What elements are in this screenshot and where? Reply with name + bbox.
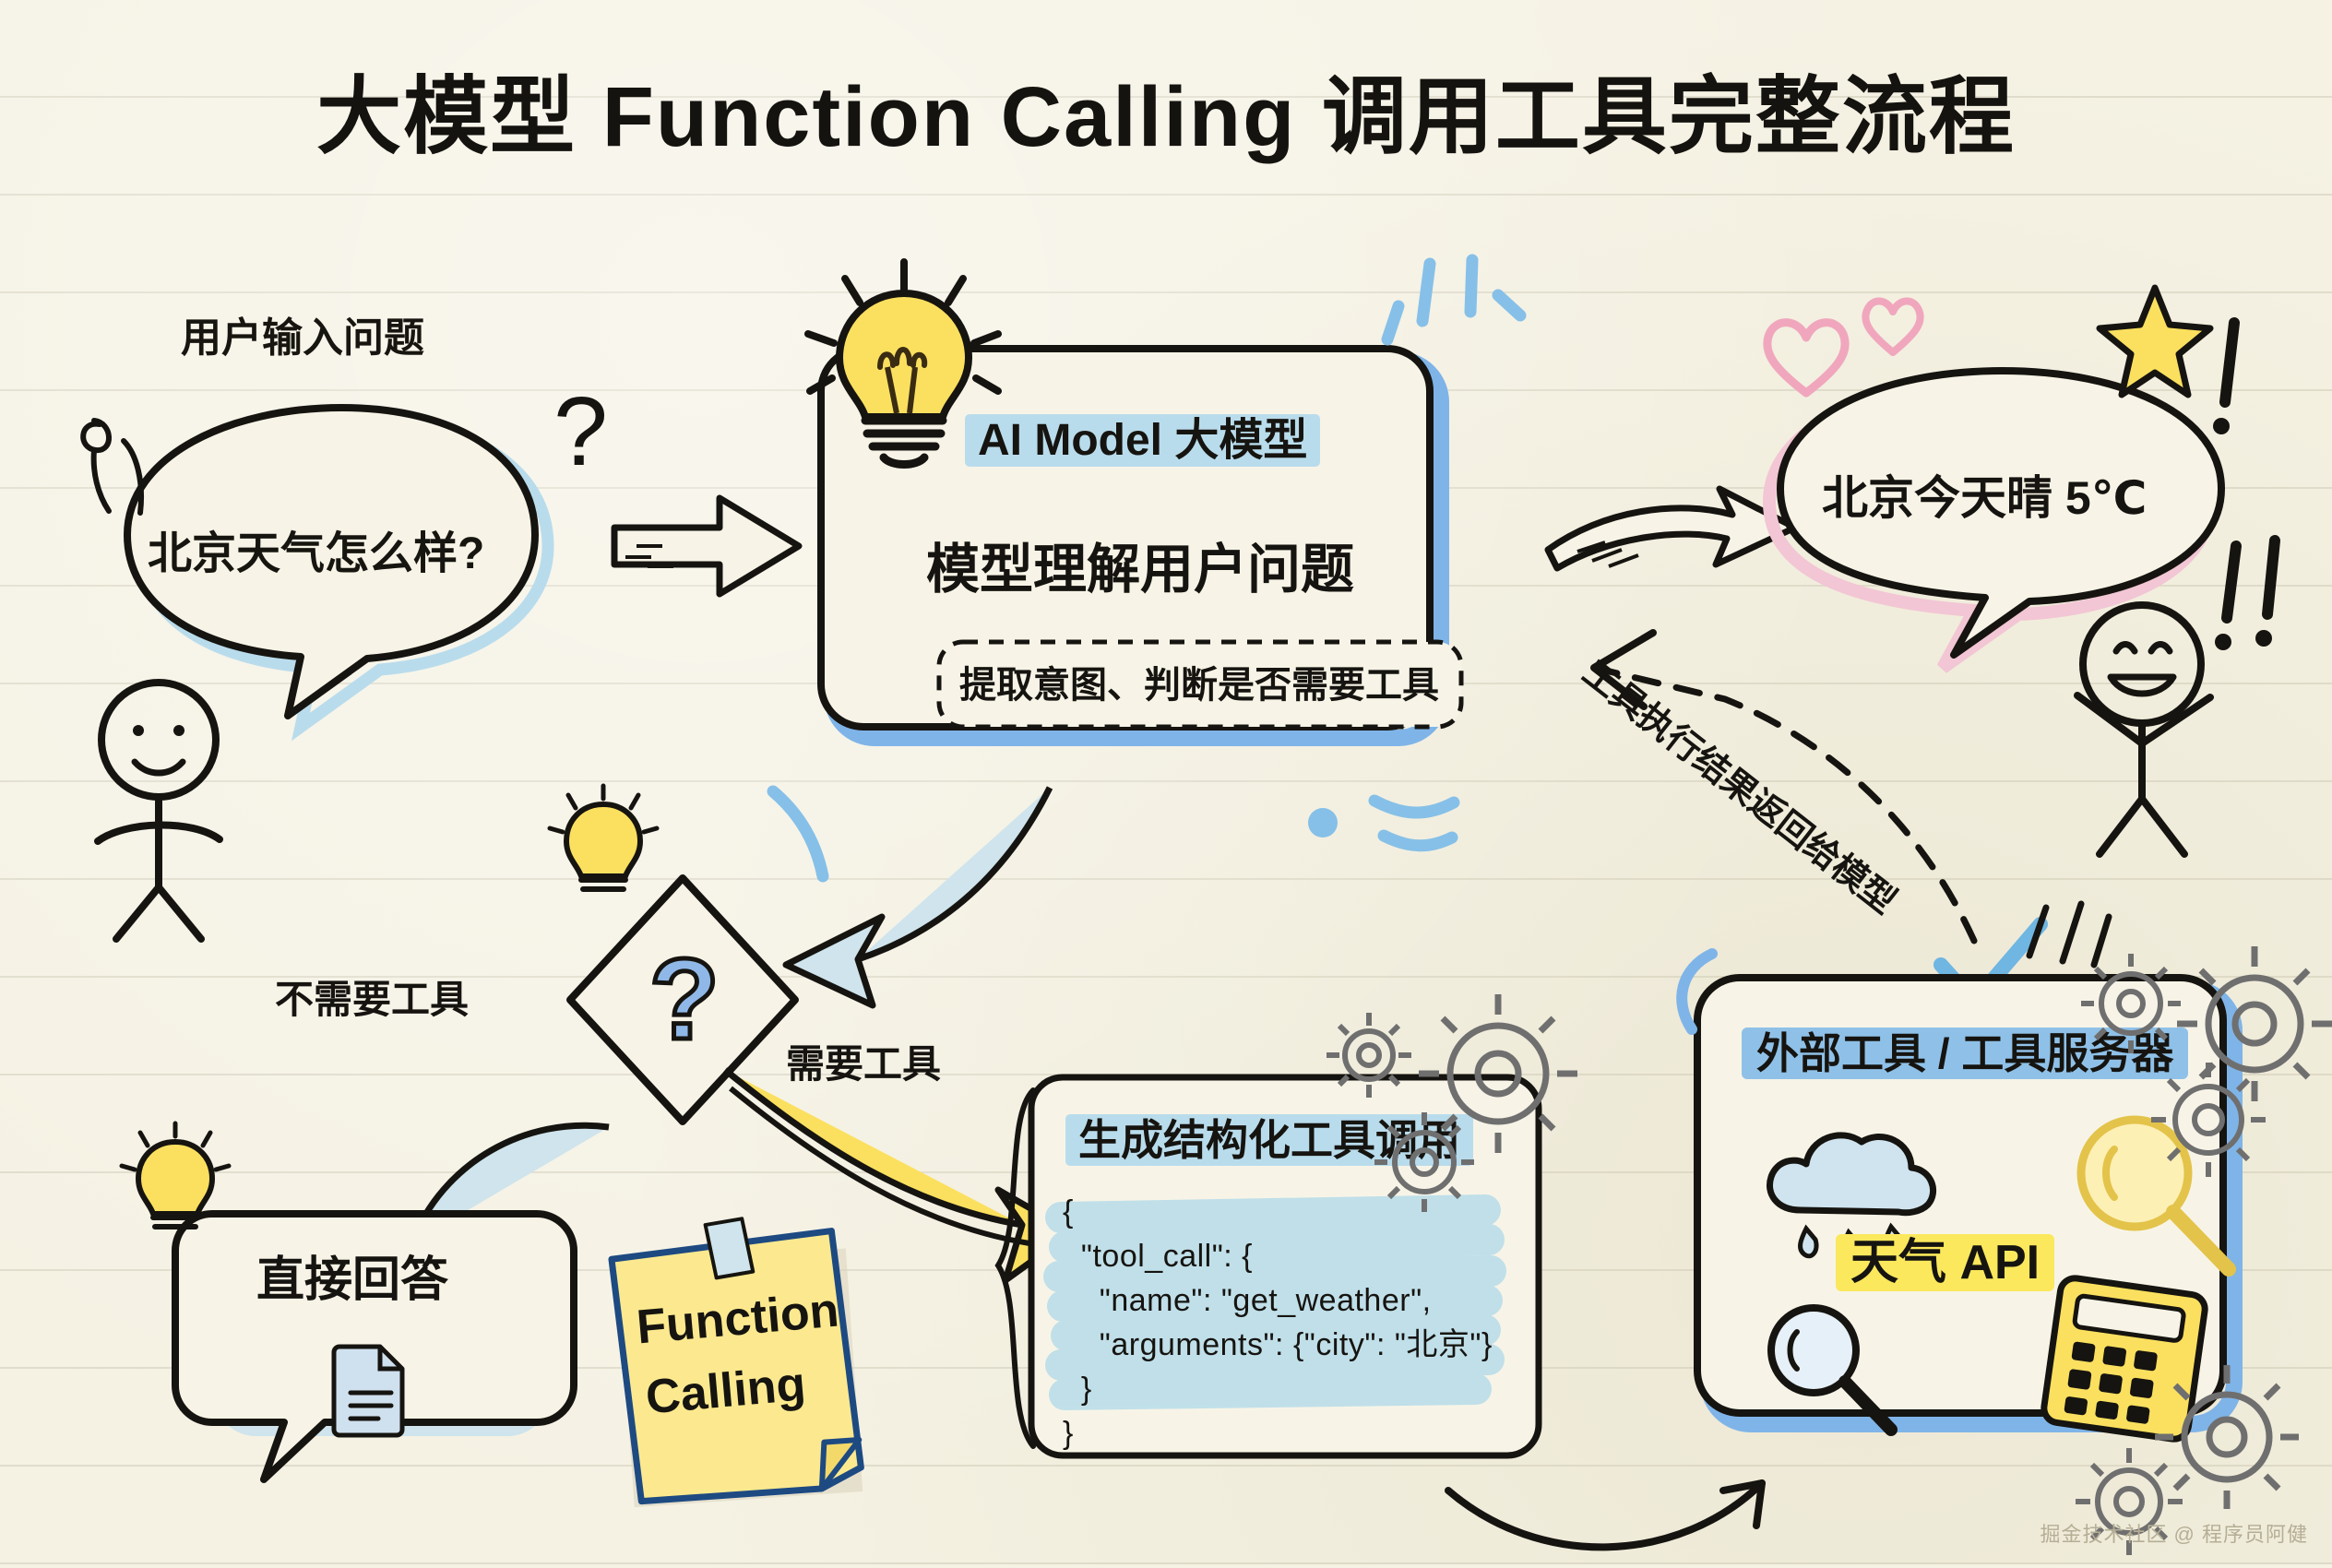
ai-model-body-text: 模型理解用户问题: [926, 526, 1354, 603]
card-brace-icon: [985, 1081, 1050, 1459]
exclamation-icon: [2214, 535, 2315, 701]
question-mark-icon: [72, 397, 173, 535]
document-icon: [330, 1339, 413, 1441]
page-title: 大模型 Function Calling 调用工具完整流程: [0, 48, 2332, 171]
sparkle-icon: [1291, 775, 1494, 885]
watermark: 掘金技术社区 @ 程序员阿健: [2040, 1518, 2308, 1548]
exclamation-icon: [2205, 314, 2278, 489]
user-question-text: 北京天气怎么样?: [148, 517, 484, 581]
answer-text: 北京今天晴 5℃: [1822, 461, 2147, 528]
weather-api-label-text: 天气 API: [1836, 1234, 2054, 1291]
magnifier-icon: [1753, 1291, 1919, 1457]
decision-symbol: ?: [649, 936, 720, 1063]
gear-icon: [1365, 1103, 1485, 1223]
heart-icon: [1753, 304, 1863, 406]
arrow-user-to-model-icon: [609, 489, 821, 609]
lightbulb-icon: [801, 255, 1004, 467]
lightbulb-small-icon: [116, 1122, 236, 1241]
gear-icon: [2072, 944, 2192, 1064]
user-input-caption: 用户输入问题: [181, 304, 424, 363]
gear-icon: [1319, 1005, 1421, 1107]
ai-model-header-label: AI Model 大模型: [965, 414, 1320, 467]
heart-icon: [1854, 286, 1937, 369]
svg-text:?: ?: [553, 377, 608, 486]
weather-api-label: 天气 API: [1836, 1223, 2054, 1292]
direct-answer-label: 直接回答: [256, 1241, 448, 1310]
tool-call-code: { "tool_call": { "name": "get_weather", …: [1063, 1190, 1561, 1455]
gear-icon: [2140, 1051, 2278, 1190]
lightbulb-small-icon: [544, 784, 664, 904]
stick-figure-icon: [74, 673, 314, 941]
ai-model-note-text: 提取意图、判断是否需要工具: [959, 655, 1439, 708]
arrow-card-to-server-icon: [1439, 1448, 1826, 1568]
ai-model-header: AI Model 大模型: [965, 403, 1320, 468]
gear-icon: [2066, 1439, 2195, 1568]
sparkle-icon: [1660, 941, 1771, 1051]
sparkle-icon: [1384, 251, 1531, 389]
star-icon: [2094, 277, 2223, 406]
